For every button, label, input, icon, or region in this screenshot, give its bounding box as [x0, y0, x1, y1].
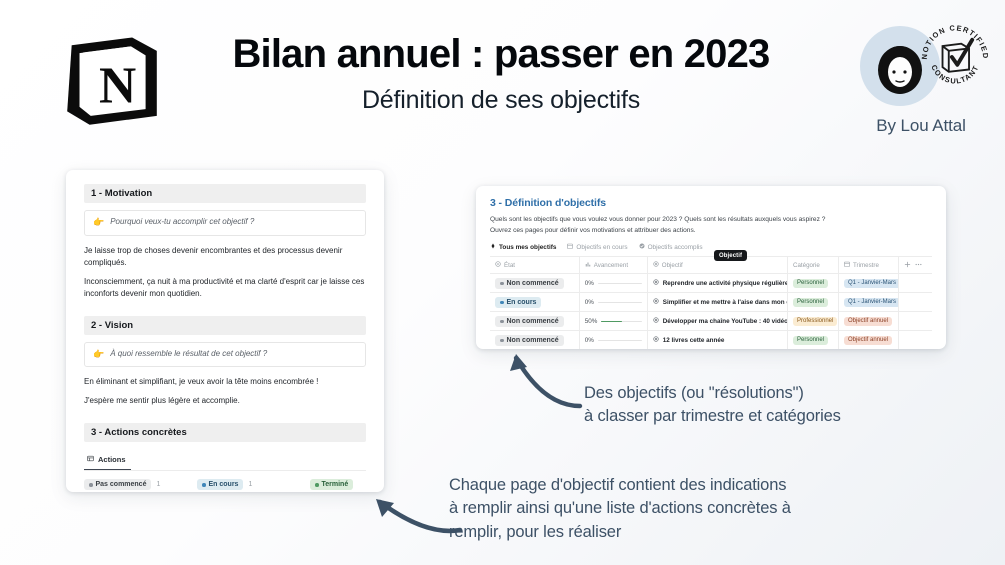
column-header-trimestre[interactable]: Trimestre — [839, 257, 899, 274]
status-badge-pas-commence[interactable]: Pas commencé — [84, 479, 151, 490]
callout-motivation-text: Pourquoi veux-tu accomplir cet objectif … — [110, 217, 254, 228]
tab-actions-label: Actions — [98, 455, 126, 464]
database-view-tabs: Tous mes objectifs Objectifs en cours Ob… — [490, 243, 932, 251]
page-subtitle: Définition de ses objectifs — [186, 86, 816, 115]
cell-objectif[interactable]: Simplifier et me mettre à l'aise dans mo… — [647, 293, 787, 312]
cell-trimestre[interactable]: Q1 - Janvier-Mars — [839, 274, 899, 293]
title-block: Bilan annuel : passer en 2023 Définition… — [186, 32, 816, 115]
objective-page-preview[interactable]: 1 - Motivation 👉 Pourquoi veux-tu accomp… — [66, 170, 384, 492]
view-tab-objectifs-accomplis[interactable]: Objectifs accomplis — [639, 243, 703, 251]
cell-spacer — [898, 274, 932, 293]
cell-categorie[interactable]: Personnel — [788, 293, 839, 312]
cell-trimestre[interactable]: Objectif annuel — [839, 312, 899, 331]
bar-chart-icon — [585, 261, 591, 269]
cell-avancement: 50% — [579, 312, 647, 331]
objectives-database-preview[interactable]: 3 - Définition d'objectifs Quels sont le… — [476, 186, 946, 349]
table-header-row: État Avancement — [490, 257, 932, 274]
svg-text:CONSULTANT: CONSULTANT — [929, 63, 980, 85]
target-icon — [653, 317, 659, 325]
cell-spacer — [898, 293, 932, 312]
right-panel-paragraph-2: Ouvrez ces pages pour définir vos motiva… — [490, 226, 932, 237]
cell-objectif[interactable]: Développer ma chaîne YouTube : 40 vidéos… — [647, 312, 787, 331]
right-panel-title: 3 - Définition d'objectifs — [490, 197, 932, 209]
annotation-arrow-up — [494, 344, 586, 416]
column-header-actions[interactable] — [898, 257, 932, 274]
page-title: Bilan annuel : passer en 2023 — [186, 32, 816, 77]
kanban-board: Pas commencé 1 ⚗ Installer une routine d… — [84, 479, 366, 492]
annotation-objectives-note: Des objectifs (ou "résolutions") à class… — [584, 382, 924, 429]
cell-etat[interactable]: En cours — [490, 293, 579, 312]
page-header: N Bilan annuel : passer en 2023 Définiti… — [0, 0, 1005, 152]
right-panel-paragraph-1: Quels sont les objectifs que vous voulez… — [490, 215, 932, 226]
objectives-table: État Avancement — [490, 256, 932, 349]
author-block: NOTION CERTIFIED CONSULTANT By Lou Attal — [846, 18, 996, 136]
calendar-icon — [567, 243, 573, 251]
cell-avancement: 0% — [579, 274, 647, 293]
kanban-count-pas-commence: 1 — [156, 481, 160, 488]
target-icon — [653, 336, 659, 344]
status-badge-termine[interactable]: Terminé — [310, 479, 353, 490]
target-icon — [653, 261, 659, 269]
table-body: Non commencé 0% Reprendre une activité p… — [490, 274, 932, 349]
cell-spacer — [898, 312, 932, 331]
table-row[interactable]: Non commencé 0% Reprendre une activité p… — [490, 274, 932, 293]
cell-avancement: 0% — [579, 293, 647, 312]
paragraph-motivation-1: Je laisse trop de choses devenir encombr… — [84, 245, 366, 269]
section-heading-actions: 3 - Actions concrètes — [84, 423, 366, 442]
cell-avancement: 0% — [579, 331, 647, 349]
column-header-categorie[interactable]: Catégorie — [788, 257, 839, 274]
author-name: By Lou Attal — [846, 116, 996, 136]
cell-etat[interactable]: Non commencé — [490, 274, 579, 293]
column-header-avancement[interactable]: Avancement — [579, 257, 647, 274]
kanban-count-en-cours: 1 — [248, 481, 252, 488]
calendar-icon — [844, 261, 850, 269]
cell-spacer — [898, 331, 932, 349]
circle-icon — [495, 261, 501, 269]
cell-categorie[interactable]: Personnel — [788, 331, 839, 349]
kanban-column-en-cours: En cours 1 🖥 Monter mon nouveau bureau J… — [197, 479, 302, 492]
cell-categorie[interactable]: Personnel — [788, 274, 839, 293]
target-icon — [653, 279, 659, 287]
table-row[interactable]: Non commencé 50% Développer ma chaîne Yo… — [490, 312, 932, 331]
callout-vision-text: À quoi ressemble le résultat de cet obje… — [110, 349, 267, 360]
cell-etat[interactable]: Non commencé — [490, 312, 579, 331]
status-badge-en-cours[interactable]: En cours — [197, 479, 243, 490]
notion-certified-consultant-badge: NOTION CERTIFIED CONSULTANT — [916, 18, 994, 96]
pointing-hand-icon: 👉 — [93, 217, 104, 229]
cell-categorie[interactable]: Professionnel — [788, 312, 839, 331]
more-options-icon[interactable] — [914, 261, 923, 270]
target-icon — [490, 243, 496, 251]
tab-divider — [84, 470, 366, 471]
notion-logo: N — [56, 24, 168, 136]
paragraph-motivation-2: Inconsciemment, ça nuit à ma productivit… — [84, 276, 366, 300]
column-tooltip: Objectif — [714, 250, 747, 261]
cell-objectif[interactable]: 12 livres cette année — [647, 331, 787, 349]
callout-motivation: 👉 Pourquoi veux-tu accomplir cet objecti… — [84, 210, 366, 236]
annotation-page-note: Chaque page d'objectif contient des indi… — [449, 474, 889, 544]
target-icon — [653, 298, 659, 306]
pointing-hand-icon: 👉 — [93, 349, 104, 361]
paragraph-vision-2: J'espère me sentir plus légère et accomp… — [84, 395, 366, 407]
view-tab-objectifs-en-cours[interactable]: Objectifs en cours — [567, 243, 627, 251]
paragraph-vision-1: En éliminant et simplifiant, je veux avo… — [84, 376, 366, 388]
tab-actions[interactable]: Actions — [84, 452, 131, 470]
callout-vision: 👉 À quoi ressemble le résultat de cet ob… — [84, 342, 366, 368]
cell-objectif[interactable]: Reprendre une activité physique régulièr… — [647, 274, 787, 293]
svg-text:N: N — [99, 57, 136, 114]
section-heading-vision: 2 - Vision — [84, 316, 366, 335]
section-heading-motivation: 1 - Motivation — [84, 184, 366, 203]
cell-trimestre[interactable]: Objectif annuel — [839, 331, 899, 349]
view-tab-tous-mes-objectifs[interactable]: Tous mes objectifs — [490, 243, 556, 251]
svg-text:NOTION CERTIFIED: NOTION CERTIFIED — [920, 23, 990, 59]
cell-trimestre[interactable]: Q1 - Janvier-Mars — [839, 293, 899, 312]
plus-icon[interactable] — [904, 261, 911, 270]
kanban-column-pas-commence: Pas commencé 1 ⚗ Installer une routine d… — [84, 479, 189, 492]
check-circle-icon — [639, 243, 645, 251]
table-row[interactable]: En cours 0% Simplifier et me mettre à l'… — [490, 293, 932, 312]
table-view-icon — [87, 455, 94, 464]
column-header-etat[interactable]: État — [490, 257, 579, 274]
